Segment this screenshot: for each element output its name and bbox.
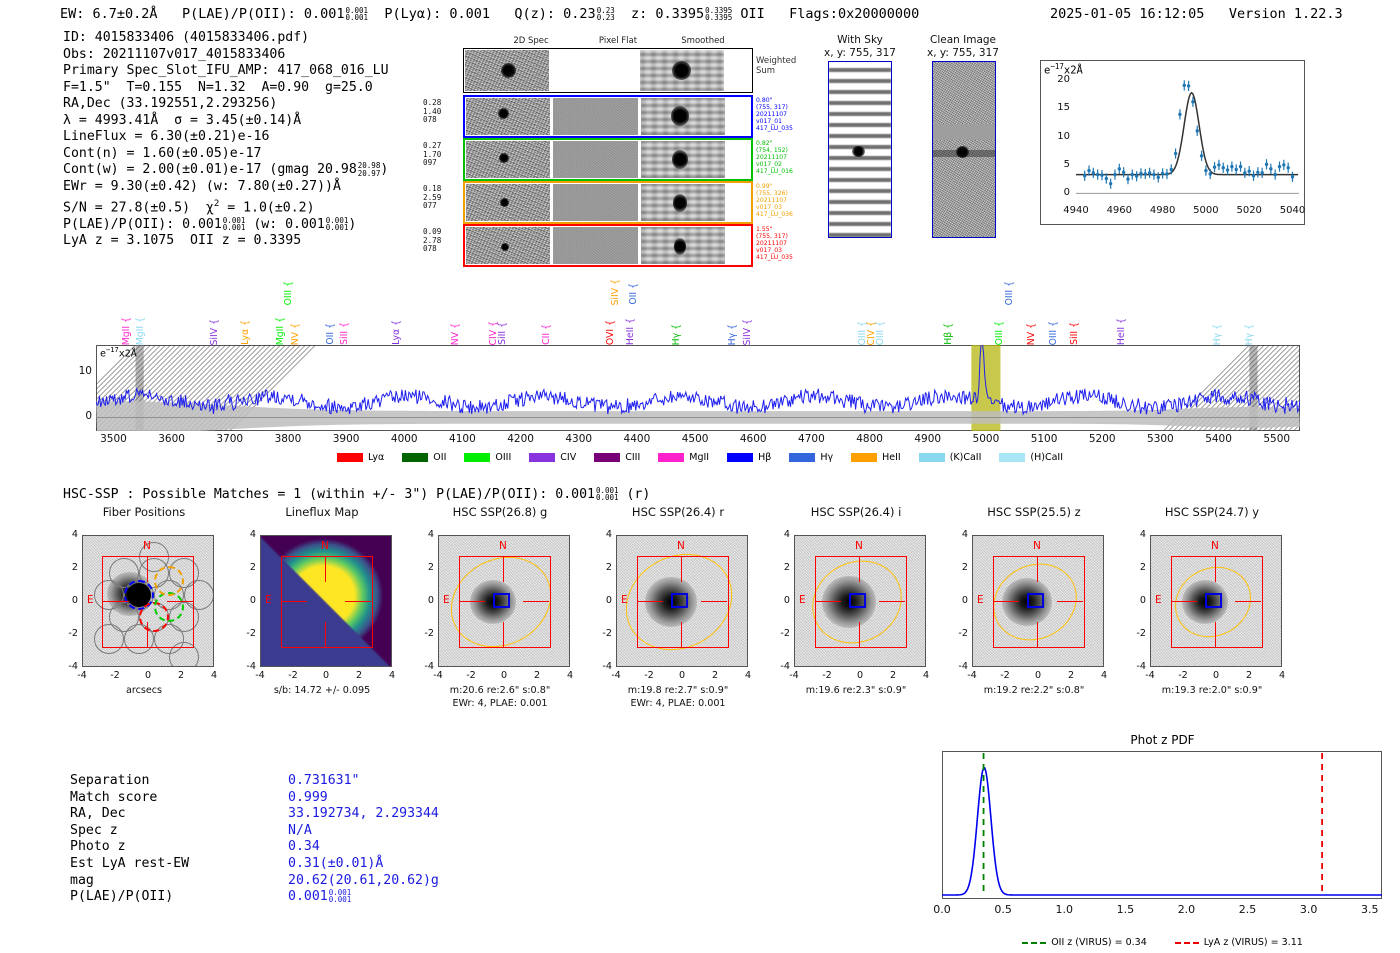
phot-z-x-tick: 0.0 — [922, 903, 962, 916]
emission-line-label: MgII { — [275, 317, 286, 345]
emission-line-label: NV { — [290, 323, 301, 345]
fiber-row-stats: 0.271.70097 — [423, 142, 441, 168]
emission-line-labels: MgII {MgII {SiIV {Lyα {MgII {OIII {NV {O… — [96, 270, 1300, 345]
header-qz: Q(z): 0.230.230.23 — [514, 6, 614, 22]
info-sn: S/N = 27.8(±0.5) χ2 = 1.0(±0.2) — [63, 196, 389, 217]
emission-line-label: OVI { — [605, 320, 616, 345]
panel-x-tick: -2 — [101, 670, 129, 681]
spectrum-legend-item: HeII — [851, 452, 901, 463]
spectrum-y-tick: 10 — [60, 365, 92, 377]
panel-y-tick: -4 — [60, 661, 78, 672]
panel-x-tick: 0 — [1202, 670, 1230, 681]
panel-y-tick: 0 — [416, 595, 434, 606]
fit-y-tick: 10 — [1040, 131, 1070, 142]
spectrum-x-tick: 4300 — [555, 433, 603, 445]
crosshair — [637, 601, 663, 602]
spectrum-x-tick: 5100 — [1020, 433, 1068, 445]
panel-x-tick: -2 — [279, 670, 307, 681]
panel-x-tick: 2 — [1057, 670, 1085, 681]
crosshair — [503, 622, 504, 648]
panel-y-tick: -2 — [60, 628, 78, 639]
emission-line-label: HeII { — [625, 318, 636, 345]
spectrum-x-tick: 5500 — [1253, 433, 1301, 445]
hsc-panel: HSC SSP(24.7) yNE-4-4-2-2002244m:19.3 re… — [1128, 505, 1296, 735]
panel-y-tick: 0 — [60, 595, 78, 606]
crosshair — [281, 601, 307, 602]
fiber-row-stats: 0.092.78078 — [423, 228, 441, 254]
match-table-key: Match score — [70, 790, 288, 807]
emission-line-label: SiIV { — [209, 319, 220, 345]
panel-x-tick: 2 — [167, 670, 195, 681]
spectrum-x-tick: 3800 — [264, 433, 312, 445]
hsc-panel-sub1: m:19.3 re:2.0" s:0.9" — [1116, 685, 1308, 696]
panel-y-tick: 4 — [416, 529, 434, 540]
phot-z-x-tick: 2.0 — [1166, 903, 1206, 916]
panel-x-tick: 0 — [846, 670, 874, 681]
emission-line-label: MgII { — [135, 317, 146, 345]
hsc-panel: HSC SSP(26.8) gNE-4-4-2-2002244m:20.6 re… — [416, 505, 584, 735]
spectrum-x-ticks: 3500360037003800390040004100420043004400… — [96, 433, 1300, 449]
hsc-panel-title: Lineflux Map — [238, 505, 406, 519]
phot-z-legend-item: LyA z (VIRUS) = 3.11 — [1175, 937, 1303, 948]
emission-line-label: Hγ { — [671, 324, 682, 345]
spectrum-legend-item: Hγ — [789, 452, 833, 463]
crosshair — [103, 601, 129, 602]
hsc-panel-sub2: EWr: 4, PLAE: 0.001 — [582, 698, 774, 709]
panel-y-tick: 4 — [594, 529, 612, 540]
emission-line-label: OIII { — [283, 281, 294, 305]
panel-y-tick: 0 — [238, 595, 256, 606]
panel-y-tick: -4 — [416, 661, 434, 672]
panel-y-tick: -4 — [238, 661, 256, 672]
emission-line-label: SiIV { — [742, 319, 753, 345]
match-table-row: Est LyA rest-EW0.31(±0.01)Å — [70, 856, 439, 873]
col-title-smoothed: Smoothed — [663, 36, 743, 46]
panel-y-tick: 2 — [238, 562, 256, 573]
match-table-row: mag20.62(20.61,20.62)g — [70, 873, 439, 890]
panel-x-tick: -2 — [635, 670, 663, 681]
match-table-value: N/A — [288, 823, 312, 838]
weighted-sum-row — [463, 48, 753, 93]
timestamp: 2025-01-05 16:12:05 — [1050, 6, 1204, 22]
info-lineflux: LineFlux = 6.30(±0.21)e-16 — [63, 129, 389, 146]
phot-z-x-tick: 3.5 — [1350, 903, 1390, 916]
crosshair — [701, 601, 727, 602]
header-summary-line: EW: 6.7±0.2Å P(LAE)/P(OII): 0.0010.0010.… — [60, 6, 919, 22]
panel-y-tick: 4 — [1128, 529, 1146, 540]
match-table-value: 20.62(20.61,20.62)g — [288, 873, 439, 888]
panel-x-tick: 0 — [490, 670, 518, 681]
spectrum-legend-item: OIII — [464, 452, 511, 463]
emission-line-label: Hγ { — [1212, 324, 1223, 345]
fiber-row — [463, 181, 753, 224]
version: Version 1.22.3 — [1229, 6, 1343, 22]
crosshair — [681, 622, 682, 648]
fit-x-tick: 5040 — [1276, 205, 1310, 216]
crosshair — [1235, 601, 1261, 602]
match-table-row: Separation0.731631" — [70, 773, 439, 790]
fiber-row-meta: 0.80"(755, 317)20211107v017_01417_LU_035 — [756, 97, 793, 132]
phot-z-x-tick: 1.5 — [1105, 903, 1145, 916]
emission-line-label: SiIV { — [610, 279, 621, 305]
panel-x-tick: 4 — [912, 670, 940, 681]
north-marker: N — [499, 540, 507, 552]
crosshair — [147, 556, 148, 582]
with-sky-title: With Sky — [810, 34, 910, 46]
hsc-header-text: HSC-SSP : Possible Matches = 1 (within +… — [63, 487, 595, 502]
panel-x-tick: -2 — [457, 670, 485, 681]
spectrum-x-tick: 4000 — [380, 433, 428, 445]
panel-x-tick: 2 — [345, 670, 373, 681]
panel-y-tick: 4 — [238, 529, 256, 540]
hsc-panel: Fiber PositionsNE-4-4-2-2002244arcsecs — [60, 505, 228, 735]
clean-image-subtitle: x, y: 755, 317 — [908, 47, 1018, 59]
emission-line-label: OII { — [325, 323, 336, 345]
spectrum-legend-item: MgII — [658, 452, 709, 463]
full-spectrum-plot: e−17x2Å — [96, 345, 1300, 431]
match-table-row: Spec zN/A — [70, 823, 439, 840]
fit-x-tick: 5020 — [1232, 205, 1266, 216]
panel-y-tick: 0 — [950, 595, 968, 606]
match-table-row: P(LAE)/P(OII)0.0010.0010.001 — [70, 889, 439, 906]
emission-line-label: MgII { — [121, 317, 132, 345]
emission-line-label: SiII { — [339, 322, 350, 345]
fit-y-tick: 15 — [1040, 102, 1070, 113]
emission-line-label: HeII { — [1116, 318, 1127, 345]
panel-y-tick: 4 — [60, 529, 78, 540]
fit-y-tick: 5 — [1040, 159, 1070, 170]
header-timestamp-version: 2025-01-05 16:12:05 Version 1.22.3 — [1050, 6, 1343, 22]
panel-y-tick: 2 — [594, 562, 612, 573]
emission-line-label: NV { — [450, 323, 461, 345]
crosshair — [879, 601, 905, 602]
panel-y-tick: -2 — [950, 628, 968, 639]
spectrum-x-tick: 4100 — [438, 433, 486, 445]
panel-y-tick: 4 — [950, 529, 968, 540]
info-plae: P(LAE)/P(OII): 0.0010.0010.001 (w: 0.001… — [63, 217, 389, 234]
hsc-panel-image: NE — [438, 535, 570, 667]
panel-x-tick: 4 — [734, 670, 762, 681]
panel-y-tick: -2 — [772, 628, 790, 639]
hsc-ssp-header: HSC-SSP : Possible Matches = 1 (within +… — [63, 487, 650, 502]
east-marker: E — [87, 594, 94, 606]
panel-y-tick: 4 — [772, 529, 790, 540]
panel-y-tick: -2 — [594, 628, 612, 639]
spectrum-legend-item: Lyα — [337, 452, 384, 463]
spectrum-x-tick: 5000 — [962, 433, 1010, 445]
spectrum-x-tick: 3500 — [89, 433, 137, 445]
fit-x-tick: 4960 — [1102, 205, 1136, 216]
match-table-row: Photo z0.34 — [70, 839, 439, 856]
phot-z-title: Phot z PDF — [930, 733, 1395, 747]
panel-y-tick: -4 — [594, 661, 612, 672]
spectrum-x-tick: 4900 — [904, 433, 952, 445]
hsc-panel-sub1: arcsecs — [48, 685, 240, 696]
hsc-panel-title: HSC SSP(26.4) i — [772, 505, 940, 519]
match-table-key: Photo z — [70, 839, 288, 856]
hsc-panel-image: NE — [972, 535, 1104, 667]
hsc-panel: HSC SSP(25.5) zNE-4-4-2-2002244m:19.2 re… — [950, 505, 1118, 735]
match-table-row: RA, Dec33.192734, 2.293344 — [70, 806, 439, 823]
emission-line-label: Lyα { — [391, 320, 402, 345]
north-marker: N — [143, 540, 151, 552]
spectrum-x-tick: 3600 — [148, 433, 196, 445]
panel-y-tick: -2 — [1128, 628, 1146, 639]
header-ew: EW: 6.7±0.2Å — [60, 6, 158, 22]
match-table-row: Match score0.999 — [70, 790, 439, 807]
clean-image-title: Clean Image — [908, 34, 1018, 46]
spectrum-legend-item: OII — [402, 452, 446, 463]
panel-x-tick: 0 — [668, 670, 696, 681]
hsc-panel: Lineflux MapNE-4-4-2-2002244s/b: 14.72 +… — [238, 505, 406, 735]
hsc-panel: HSC SSP(26.4) iNE-4-4-2-2002244m:19.6 re… — [772, 505, 940, 735]
spectrum-x-tick: 5200 — [1078, 433, 1126, 445]
match-table-key: Separation — [70, 773, 288, 790]
hsc-panel-title: HSC SSP(25.5) z — [950, 505, 1118, 519]
hsc-header-tail: (r) — [626, 487, 650, 502]
phot-z-pdf-plot: Phot z PDF 0.00.51.01.52.02.53.03.5 OII … — [930, 733, 1395, 948]
fiber-row-meta: 0.82"(754, 152)20211107v017_02417_LU_016 — [756, 140, 793, 175]
match-table-key: RA, Dec — [70, 806, 288, 823]
panel-y-tick: -2 — [416, 628, 434, 639]
emission-line-label: Hγ { — [1244, 324, 1255, 345]
fiber-row-meta: 0.99"(755, 326)20211107v017_03417_LU_036 — [756, 183, 793, 218]
spectrum-legend-item: (K)CaII — [919, 452, 982, 463]
emission-line-label: NV { — [1026, 323, 1037, 345]
east-marker: E — [799, 594, 806, 606]
fiber-row-meta: 1.55"(755, 317)20211107v017_03417_LU_035 — [756, 226, 793, 261]
match-table-value: 0.999 — [288, 790, 328, 805]
fit-y-tick: 20 — [1040, 74, 1070, 85]
spectrum-y-tick: 0 — [60, 410, 92, 422]
fiber-row — [463, 138, 753, 181]
spectrum-legend-item: (H)CaII — [999, 452, 1063, 463]
hsc-header-sub: 0.001 — [596, 494, 619, 501]
panel-x-tick: 0 — [312, 670, 340, 681]
fiber-row — [463, 224, 753, 267]
panel-y-tick: 2 — [950, 562, 968, 573]
panel-x-tick: -2 — [1169, 670, 1197, 681]
info-contw: Cont(w) = 2.00(±0.01)e-17 (gmag 20.9820.… — [63, 162, 389, 179]
detection-info-block: ID: 4015833406 (4015833406.pdf) Obs: 202… — [63, 30, 389, 250]
panel-y-tick: -4 — [1128, 661, 1146, 672]
spectrum-legend-item: Hβ — [727, 452, 771, 463]
info-ewr: EWr = 9.30(±0.42) (w: 7.80(±0.27))Å — [63, 179, 389, 196]
panel-y-tick: 2 — [772, 562, 790, 573]
crosshair — [1037, 622, 1038, 648]
panel-y-tick: 2 — [416, 562, 434, 573]
emission-line-label: Lyα { — [240, 320, 251, 345]
spectrum-x-tick: 4200 — [497, 433, 545, 445]
match-table-key: P(LAE)/P(OII) — [70, 889, 288, 906]
header-plya: P(Lyα): 0.001 — [384, 6, 490, 22]
crosshair — [859, 556, 860, 582]
spectrum-legend-item: CIII — [594, 452, 640, 463]
hsc-panel-image: NE — [82, 535, 214, 667]
header-flags: Flags:0x20000000 — [789, 6, 919, 22]
fiber-row — [463, 95, 753, 138]
info-id: ID: 4015833406 (4015833406.pdf) — [63, 30, 389, 47]
info-obs: Obs: 20211107v017_4015833406 — [63, 47, 389, 64]
east-marker: E — [1155, 594, 1162, 606]
spectrum-x-tick: 4800 — [846, 433, 894, 445]
spectrum-x-tick: 3900 — [322, 433, 370, 445]
crosshair — [167, 601, 193, 602]
hsc-panel-sub1: m:20.6 re:2.6" s:0.8" — [404, 685, 596, 696]
panel-x-tick: 2 — [1235, 670, 1263, 681]
north-marker: N — [321, 540, 329, 552]
emission-line-label: OII { — [628, 283, 639, 305]
hsc-panel: HSC SSP(26.4) rNE-4-4-2-2002244m:19.8 re… — [594, 505, 762, 735]
phot-z-x-ticks: 0.00.51.01.52.02.53.03.5 — [942, 903, 1382, 919]
east-marker: E — [977, 594, 984, 606]
crosshair — [523, 601, 549, 602]
emission-line-label: SiII { — [1069, 322, 1080, 345]
hsc-panel-title: HSC SSP(26.8) g — [416, 505, 584, 519]
spectrum-x-tick: 3700 — [206, 433, 254, 445]
panel-x-tick: 2 — [879, 670, 907, 681]
crosshair — [147, 622, 148, 648]
panel-y-tick: 2 — [1128, 562, 1146, 573]
hsc-panel-row: Fiber PositionsNE-4-4-2-2002244arcsecsLi… — [0, 505, 1400, 735]
fit-x-tick: 5000 — [1189, 205, 1223, 216]
info-wavelength: λ = 4993.41Å σ = 3.45(±0.14)Å — [63, 113, 389, 130]
info-primary-slot: Primary Spec_Slot_IFU_AMP: 417_068_016_L… — [63, 63, 389, 80]
spectrum-x-tick: 5300 — [1136, 433, 1184, 445]
fiber-row-stats: 0.281.40078 — [423, 99, 441, 125]
hsc-panel-title: Fiber Positions — [60, 505, 228, 519]
info-seeing: F=1.5" T=0.155 N=1.32 A=0.90 g=25.0 — [63, 80, 389, 97]
crosshair — [993, 601, 1019, 602]
panel-y-tick: 0 — [772, 595, 790, 606]
header-plae: P(LAE)/P(OII): 0.0010.0010.001 — [182, 6, 368, 22]
emission-line-label: SiII { — [497, 322, 508, 345]
emission-line-label: OIII { — [875, 321, 886, 345]
spectrum-y-ticks: 010 — [60, 345, 94, 431]
spectrum-x-tick: 4500 — [671, 433, 719, 445]
crosshair — [859, 622, 860, 648]
hsc-panel-sub2: EWr: 4, PLAE: 0.001 — [404, 698, 596, 709]
emission-line-label: OIII { — [1004, 281, 1015, 305]
panel-y-tick: -2 — [238, 628, 256, 639]
crosshair — [325, 556, 326, 582]
hsc-panel-image: NE — [1150, 535, 1282, 667]
crosshair — [503, 556, 504, 582]
hsc-panel-image: NE — [794, 535, 926, 667]
match-table-value: 0.34 — [288, 839, 320, 854]
match-table-key: Est LyA rest-EW — [70, 856, 288, 873]
phot-z-x-tick: 0.5 — [983, 903, 1023, 916]
emission-line-label: CII { — [541, 324, 552, 345]
panel-x-tick: 4 — [1268, 670, 1296, 681]
crosshair — [681, 556, 682, 582]
match-table-key: Spec z — [70, 823, 288, 840]
panel-x-tick: -2 — [991, 670, 1019, 681]
hsc-panel-sub1: m:19.6 re:2.3" s:0.9" — [760, 685, 952, 696]
north-marker: N — [1211, 540, 1219, 552]
panel-y-tick: 0 — [594, 595, 612, 606]
east-marker: E — [265, 594, 272, 606]
phot-z-x-tick: 2.5 — [1228, 903, 1268, 916]
info-contn: Cont(n) = 1.60(±0.05)e-17 — [63, 146, 389, 163]
north-marker: N — [855, 540, 863, 552]
panel-y-tick: -4 — [772, 661, 790, 672]
north-marker: N — [1033, 540, 1041, 552]
hsc-panel-title: HSC SSP(26.4) r — [594, 505, 762, 519]
panel-y-tick: 2 — [60, 562, 78, 573]
east-marker: E — [443, 594, 450, 606]
hsc-panel-title: HSC SSP(24.7) y — [1128, 505, 1296, 519]
match-table: Separation0.731631"Match score0.999RA, D… — [70, 773, 439, 906]
emission-line-label: OIII { — [1048, 321, 1059, 345]
info-radec: RA,Dec (33.192551,2.293256) — [63, 96, 389, 113]
emission-line-label: OIII { — [994, 321, 1005, 345]
panel-x-tick: 2 — [523, 670, 551, 681]
phot-z-legend: OII z (VIRUS) = 0.34LyA z (VIRUS) = 3.11 — [930, 937, 1395, 948]
panel-x-tick: 4 — [556, 670, 584, 681]
panel-y-tick: 0 — [1128, 595, 1146, 606]
panel-x-tick: 4 — [200, 670, 228, 681]
crosshair — [325, 622, 326, 648]
spectrum-x-tick: 4400 — [613, 433, 661, 445]
crosshair — [459, 601, 485, 602]
crosshair — [1215, 556, 1216, 582]
hsc-panel-sub1: s/b: 14.72 +/- 0.095 — [226, 685, 418, 696]
spectrum-x-tick: 4700 — [787, 433, 835, 445]
col-title-pixelflat: Pixel Flat — [578, 36, 658, 46]
hsc-panel-image: NE — [260, 535, 392, 667]
crosshair — [1057, 601, 1083, 602]
crosshair — [815, 601, 841, 602]
phot-z-x-tick: 1.0 — [1044, 903, 1084, 916]
phot-z-x-tick: 3.0 — [1289, 903, 1329, 916]
crosshair — [345, 601, 371, 602]
with-sky-subtitle: x, y: 755, 317 — [810, 47, 910, 59]
hsc-panel-sub1: m:19.8 re:2.7" s:0.9" — [582, 685, 774, 696]
col-title-2dspec: 2D Spec — [491, 36, 571, 46]
crosshair — [1171, 601, 1197, 602]
east-marker: E — [621, 594, 628, 606]
match-table-value: 0.731631" — [288, 773, 359, 788]
match-table-value: 0.31(±0.01)Å — [288, 856, 383, 871]
panel-x-tick: 4 — [1090, 670, 1118, 681]
fit-x-tick: 4940 — [1059, 205, 1093, 216]
hsc-panel-sub1: m:19.2 re:2.2" s:0.8" — [938, 685, 1130, 696]
panel-x-tick: 2 — [701, 670, 729, 681]
spectrum-units-label: e−17x2Å — [100, 346, 137, 359]
fit-x-tick: 4980 — [1146, 205, 1180, 216]
match-table-key: mag — [70, 873, 288, 890]
line-fit-plot: e−17x2Å 49404960498050005020504005101520 — [1040, 60, 1305, 225]
panel-x-tick: 4 — [378, 670, 406, 681]
spectrum-legend-item: CIV — [529, 452, 576, 463]
spectrum-x-tick: 5400 — [1195, 433, 1243, 445]
panel-y-tick: -4 — [950, 661, 968, 672]
spectrum-legend: LyαOIIOIIICIVCIIIMgIIHβHγHeII(K)CaII(H)C… — [0, 452, 1400, 463]
panel-x-tick: 0 — [134, 670, 162, 681]
header-z: z: 0.33950.33950.3395 OII — [631, 6, 765, 22]
match-table-value: 0.0010.0010.001 — [288, 889, 351, 904]
crosshair — [1215, 622, 1216, 648]
emission-line-label: Hβ { — [943, 323, 954, 345]
panel-x-tick: -2 — [813, 670, 841, 681]
north-marker: N — [677, 540, 685, 552]
fiber-row-stats: 0.182.59077 — [423, 185, 441, 211]
info-redshifts: LyA z = 3.1075 OII z = 0.3395 — [63, 233, 389, 250]
crosshair — [1037, 556, 1038, 582]
emission-line-label: Hγ { — [727, 324, 738, 345]
hsc-panel-image: NE — [616, 535, 748, 667]
